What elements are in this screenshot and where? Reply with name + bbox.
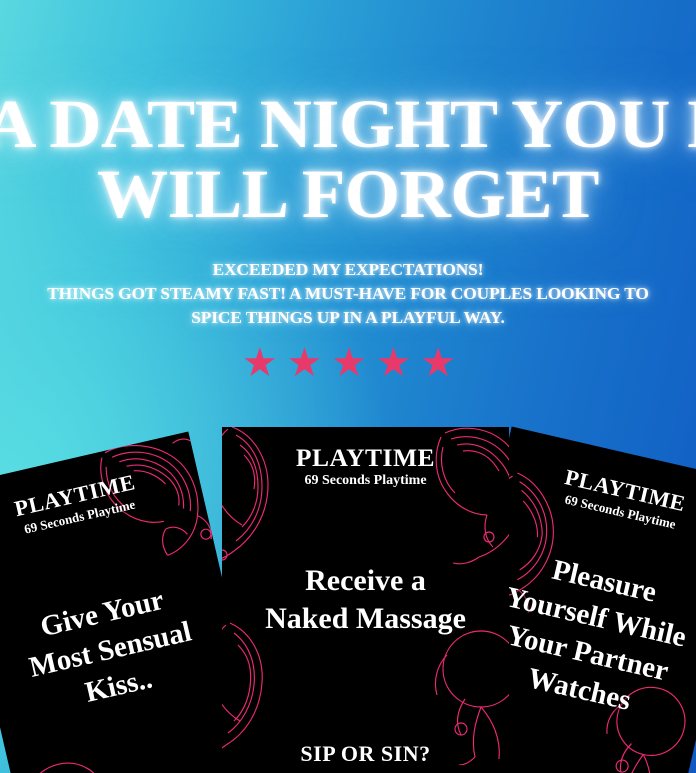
filigree-ornament-icon <box>0 723 116 773</box>
card-center-body: Receive a Naked Massage <box>222 562 509 639</box>
card-center-header: PLAYTIME 69 Seconds Playtime <box>222 445 509 489</box>
card-subtitle: 69 Seconds Playtime <box>222 473 509 489</box>
card-center-footer: SIP OR SIN? <box>222 741 509 767</box>
filigree-ornament-icon <box>222 619 284 759</box>
promo-poster: A DATE NIGHT YOU LATE WILL FORGET EXCEED… <box>0 0 696 773</box>
playtime-card-center[interactable]: PLAYTIME 69 Seconds Playtime Receive a N… <box>222 427 509 773</box>
card-body-line: Receive a <box>222 562 509 600</box>
card-body-line: Naked Massage <box>222 600 509 638</box>
card-title: PLAYTIME <box>222 445 509 473</box>
card-fan: PLAYTIME 69 Seconds Playtime Give Your M… <box>0 0 696 773</box>
